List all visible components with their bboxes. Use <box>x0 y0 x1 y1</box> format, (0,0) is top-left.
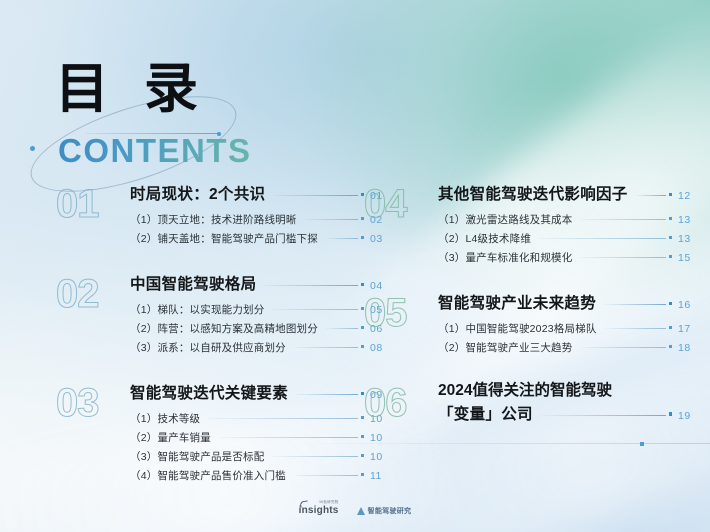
leader-dot <box>669 236 673 240</box>
triangle-icon <box>357 507 365 515</box>
toc-sub-item-label: （2）铺天盖地：智能驾驶产品门槛下探 <box>130 231 318 246</box>
toc-group-body: 智能驾驶迭代关键要素09（1）技术等级10（2）量产车销量10（3）智能驾驶产品… <box>130 381 386 487</box>
toc-sub-item[interactable]: （2）铺天盖地：智能驾驶产品门槛下探03 <box>130 231 386 250</box>
toc-page-number: 17 <box>678 323 694 335</box>
leader-line <box>580 219 665 220</box>
toc-sub-item-label: （3）量产车标准化和规模化 <box>438 250 572 265</box>
page-subtitle: CONTENTS <box>58 134 252 167</box>
toc-group-title-line2: 「变量」公司 <box>438 402 533 424</box>
toc-sub-item[interactable]: （2）量产车销量10 <box>130 430 386 449</box>
toc-group-number: 06 <box>364 383 430 423</box>
toc-column-left: 01时局现状：2个共识01（1）顶天立地：技术进阶路线明晰02（2）铺天盖地：智… <box>56 182 386 509</box>
toc-group-title: 智能驾驶产业未来趋势 <box>438 291 596 313</box>
leader-dot <box>669 302 673 306</box>
leader-line <box>219 437 358 438</box>
toc-sub-item-label: （3）派系：以自研及供应商划分 <box>130 340 286 355</box>
toc-page-number: 12 <box>678 190 694 202</box>
toc-sub-item-label: （1）技术等级 <box>130 411 200 426</box>
footer-rule <box>290 443 710 444</box>
leader-dot <box>361 454 365 458</box>
toc-sub-item-label: （2）阵营：以感知方案及高精地图划分 <box>130 321 318 336</box>
toc-group-title-row[interactable]: 智能驾驶迭代关键要素09 <box>130 381 386 407</box>
leader-line <box>605 328 666 329</box>
page-title: 目 录 <box>55 62 208 116</box>
check-icon <box>299 500 308 507</box>
toc-sub-item[interactable]: （1）激光雷达路线及其成本13 <box>438 212 694 231</box>
leader-line <box>273 195 357 196</box>
toc-sub-item[interactable]: （2）智能驾驶产业三大趋势18 <box>438 340 694 359</box>
page-footer: 36氪研究院 insights 智能驾驶研究 <box>0 505 710 516</box>
toc-group-title-row[interactable]: 「变量」公司19 <box>438 402 694 428</box>
toc-column-right: 04其他智能驾驶迭代影响因子12（1）激光雷达路线及其成本13（2）L4级技术降… <box>364 182 694 450</box>
toc-group-body: 2024值得关注的智能驾驶「变量」公司19 <box>438 381 694 428</box>
toc-group[interactable]: 05智能驾驶产业未来趋势16（1）中国智能驾驶2023格局梯队17（2）智能驾驶… <box>364 291 694 359</box>
toc-page-number: 11 <box>370 470 386 482</box>
leader-line <box>272 456 357 457</box>
toc-group-title: 其他智能驾驶迭代影响因子 <box>438 182 628 204</box>
leader-dot <box>669 217 673 221</box>
footer-dot <box>640 442 644 446</box>
toc-group-body: 时局现状：2个共识01（1）顶天立地：技术进阶路线明晰02（2）铺天盖地：智能驾… <box>130 182 386 250</box>
toc-sub-item[interactable]: （3）量产车标准化和规模化15 <box>438 250 694 269</box>
leader-dot <box>669 412 673 416</box>
toc-sub-item-label: （3）智能驾驶产品是否标配 <box>130 449 264 464</box>
toc-group-number: 04 <box>364 184 430 224</box>
logo-insights: 36氪研究院 insights <box>299 505 339 516</box>
leader-line <box>208 418 357 419</box>
leader-line <box>580 257 665 258</box>
toc-page: 目 录 CONTENTS 01时局现状：2个共识01（1）顶天立地：技术进阶路线… <box>0 0 710 532</box>
toc-page-number: 15 <box>678 252 694 264</box>
logo-secondary-label: 智能驾驶研究 <box>368 506 412 516</box>
toc-group[interactable]: 03智能驾驶迭代关键要素09（1）技术等级10（2）量产车销量10（3）智能驾驶… <box>56 381 386 487</box>
toc-sub-item[interactable]: （1）梯队：以实现能力划分05 <box>130 302 386 321</box>
leader-line <box>305 219 358 220</box>
toc-sub-item[interactable]: （3）智能驾驶产品是否标配10 <box>130 449 386 468</box>
toc-sub-item[interactable]: （1）顶天立地：技术进阶路线明晰02 <box>130 212 386 231</box>
toc-group-title: 时局现状：2个共识 <box>130 182 265 204</box>
leader-line <box>326 238 358 239</box>
toc-sub-item[interactable]: （1）技术等级10 <box>130 411 386 430</box>
toc-group-number: 05 <box>364 293 430 333</box>
leader-line <box>264 285 357 286</box>
toc-group-title-row[interactable]: 其他智能驾驶迭代影响因子12 <box>438 182 694 208</box>
toc-group-body: 智能驾驶产业未来趋势16（1）中国智能驾驶2023格局梯队17（2）智能驾驶产业… <box>438 291 694 359</box>
toc-group-title-line1: 2024值得关注的智能驾驶 <box>438 381 694 402</box>
toc-group-title-row[interactable]: 时局现状：2个共识01 <box>130 182 386 208</box>
ellipse-dot-left <box>30 146 35 151</box>
toc-sub-item-label: （1）梯队：以实现能力划分 <box>130 302 264 317</box>
toc-sub-item[interactable]: （2）L4级技术降维13 <box>438 231 694 250</box>
toc-sub-item-label: （1）中国智能驾驶2023格局梯队 <box>438 321 597 336</box>
leader-line <box>539 238 665 239</box>
page-header: 目 录 CONTENTS <box>0 0 710 185</box>
leader-line <box>326 328 358 329</box>
leader-dot <box>669 255 673 259</box>
toc-group-title: 智能驾驶迭代关键要素 <box>130 381 288 403</box>
toc-page-number: 13 <box>678 214 694 226</box>
leader-dot <box>669 326 673 330</box>
toc-sub-item-label: （2）智能驾驶产业三大趋势 <box>438 340 572 355</box>
toc-sub-item[interactable]: （4）智能驾驶产品售价准入门槛11 <box>130 468 386 487</box>
toc-group-body: 中国智能驾驶格局04（1）梯队：以实现能力划分05（2）阵营：以感知方案及高精地… <box>130 272 386 359</box>
toc-sub-item-label: （2）量产车销量 <box>130 430 211 445</box>
leader-line <box>541 415 666 416</box>
leader-dot <box>669 193 673 197</box>
leader-line <box>294 475 358 476</box>
toc-group[interactable]: 04其他智能驾驶迭代影响因子12（1）激光雷达路线及其成本13（2）L4级技术降… <box>364 182 694 269</box>
toc-page-number: 10 <box>370 451 386 463</box>
toc-group-title: 中国智能驾驶格局 <box>130 272 256 294</box>
toc-group-title-row[interactable]: 智能驾驶产业未来趋势16 <box>438 291 694 317</box>
toc-sub-item-label: （1）激光雷达路线及其成本 <box>438 212 572 227</box>
toc-sub-item-label: （1）顶天立地：技术进阶路线明晰 <box>130 212 297 227</box>
leader-line <box>636 195 666 196</box>
toc-page-number: 16 <box>678 299 694 311</box>
logo-secondary: 智能驾驶研究 <box>357 506 412 516</box>
logo-insights-sup: 36氪研究院 <box>319 500 339 505</box>
toc-sub-item[interactable]: （1）中国智能驾驶2023格局梯队17 <box>438 321 694 340</box>
toc-sub-item-label: （2）L4级技术降维 <box>438 231 531 246</box>
toc-sub-item[interactable]: （3）派系：以自研及供应商划分08 <box>130 340 386 359</box>
toc-page-number: 19 <box>678 410 694 422</box>
leader-line <box>580 347 665 348</box>
toc-group-number: 03 <box>56 383 122 423</box>
toc-group-number: 01 <box>56 184 122 224</box>
toc-group-number: 02 <box>56 274 122 314</box>
leader-dot <box>669 345 673 349</box>
leader-line <box>272 309 357 310</box>
toc-group[interactable]: 02中国智能驾驶格局04（1）梯队：以实现能力划分05（2）阵营：以感知方案及高… <box>56 272 386 359</box>
toc-page-number: 13 <box>678 233 694 245</box>
toc-group-body: 其他智能驾驶迭代影响因子12（1）激光雷达路线及其成本13（2）L4级技术降维1… <box>438 182 694 269</box>
toc-sub-item-label: （4）智能驾驶产品售价准入门槛 <box>130 468 286 483</box>
toc-page-number: 18 <box>678 342 694 354</box>
leader-dot <box>361 473 365 477</box>
toc-group[interactable]: 01时局现状：2个共识01（1）顶天立地：技术进阶路线明晰02（2）铺天盖地：智… <box>56 182 386 250</box>
toc-group[interactable]: 062024值得关注的智能驾驶「变量」公司19 <box>364 381 694 428</box>
leader-line <box>604 304 665 305</box>
toc-group-title-row[interactable]: 中国智能驾驶格局04 <box>130 272 386 298</box>
leader-line <box>294 347 358 348</box>
toc-sub-item[interactable]: （2）阵营：以感知方案及高精地图划分06 <box>130 321 386 340</box>
leader-line <box>296 394 357 395</box>
